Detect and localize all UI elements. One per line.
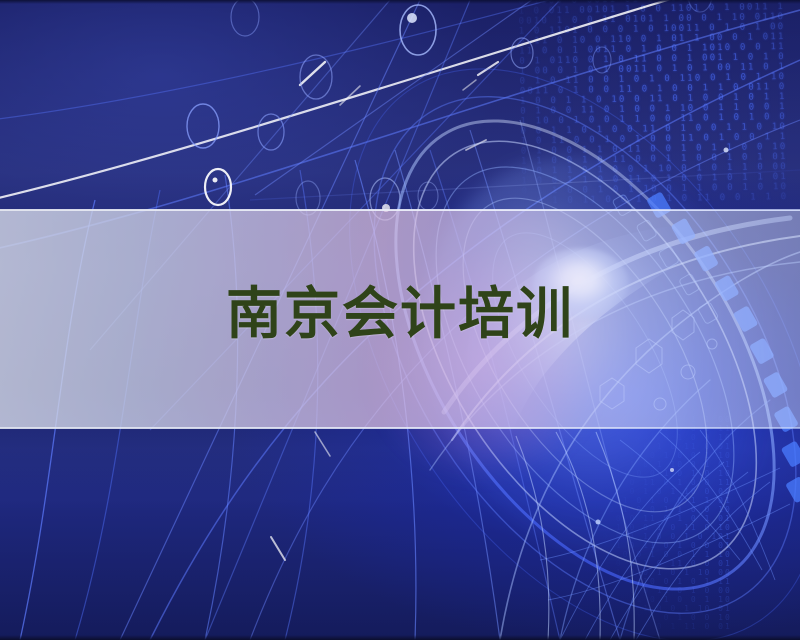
bottom-edge-shadow — [0, 635, 800, 640]
page-title: 南京会计培训 — [0, 282, 800, 348]
band-top-edge-line — [0, 209, 800, 211]
top-edge-shadow — [0, 0, 800, 4]
band-bottom-edge-line — [0, 427, 800, 429]
banner-graphic: 0 1100 0 0011 01 0 10010 0 11001 00 1 0 … — [0, 0, 800, 640]
